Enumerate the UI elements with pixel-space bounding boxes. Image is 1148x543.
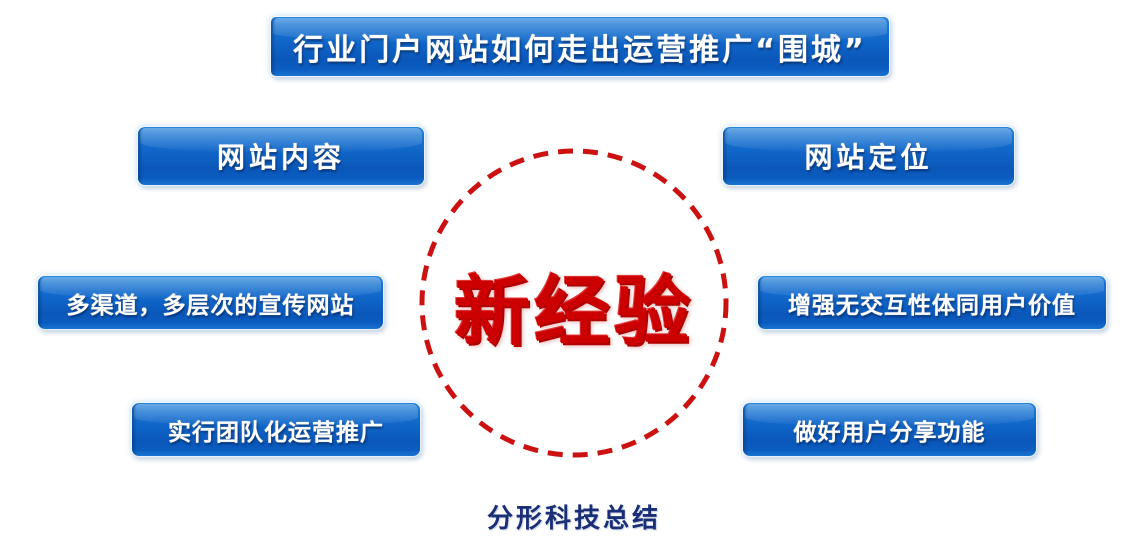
footer-caption: 分形科技总结 xyxy=(0,498,1148,535)
plaque-website-positioning: 网站定位 xyxy=(723,127,1014,185)
plaque-multi-channel-promotion: 多渠道，多层次的宣传网站 xyxy=(38,276,383,329)
plaque-enhance-user-value-label: 增强无交互性体同用户价值 xyxy=(788,286,1076,320)
title-text: 行业门户网站如何走出运营推广“围城” xyxy=(293,25,866,69)
slide-canvas: 行业门户网站如何走出运营推广“围城” 网站内容 网站定位 多渠道，多层次的宣传网… xyxy=(0,0,1148,543)
footer-caption-text: 分形科技总结 xyxy=(487,504,661,534)
plaque-website-content-label: 网站内容 xyxy=(217,136,345,176)
plaque-team-operations: 实行团队化运营推广 xyxy=(132,403,420,456)
plaque-user-sharing-feature-label: 做好用户分享功能 xyxy=(794,413,986,447)
title-plaque: 行业门户网站如何走出运营推广“围城” xyxy=(271,17,889,76)
center-label: 新经验 xyxy=(413,255,735,355)
plaque-user-sharing-feature: 做好用户分享功能 xyxy=(743,403,1036,456)
plaque-website-content: 网站内容 xyxy=(138,127,424,185)
plaque-enhance-user-value: 增强无交互性体同用户价值 xyxy=(758,276,1106,329)
plaque-website-positioning-label: 网站定位 xyxy=(804,136,932,176)
center-label-text: 新经验 xyxy=(454,250,694,360)
plaque-team-operations-label: 实行团队化运营推广 xyxy=(168,413,384,447)
plaque-multi-channel-promotion-label: 多渠道，多层次的宣传网站 xyxy=(67,286,355,320)
